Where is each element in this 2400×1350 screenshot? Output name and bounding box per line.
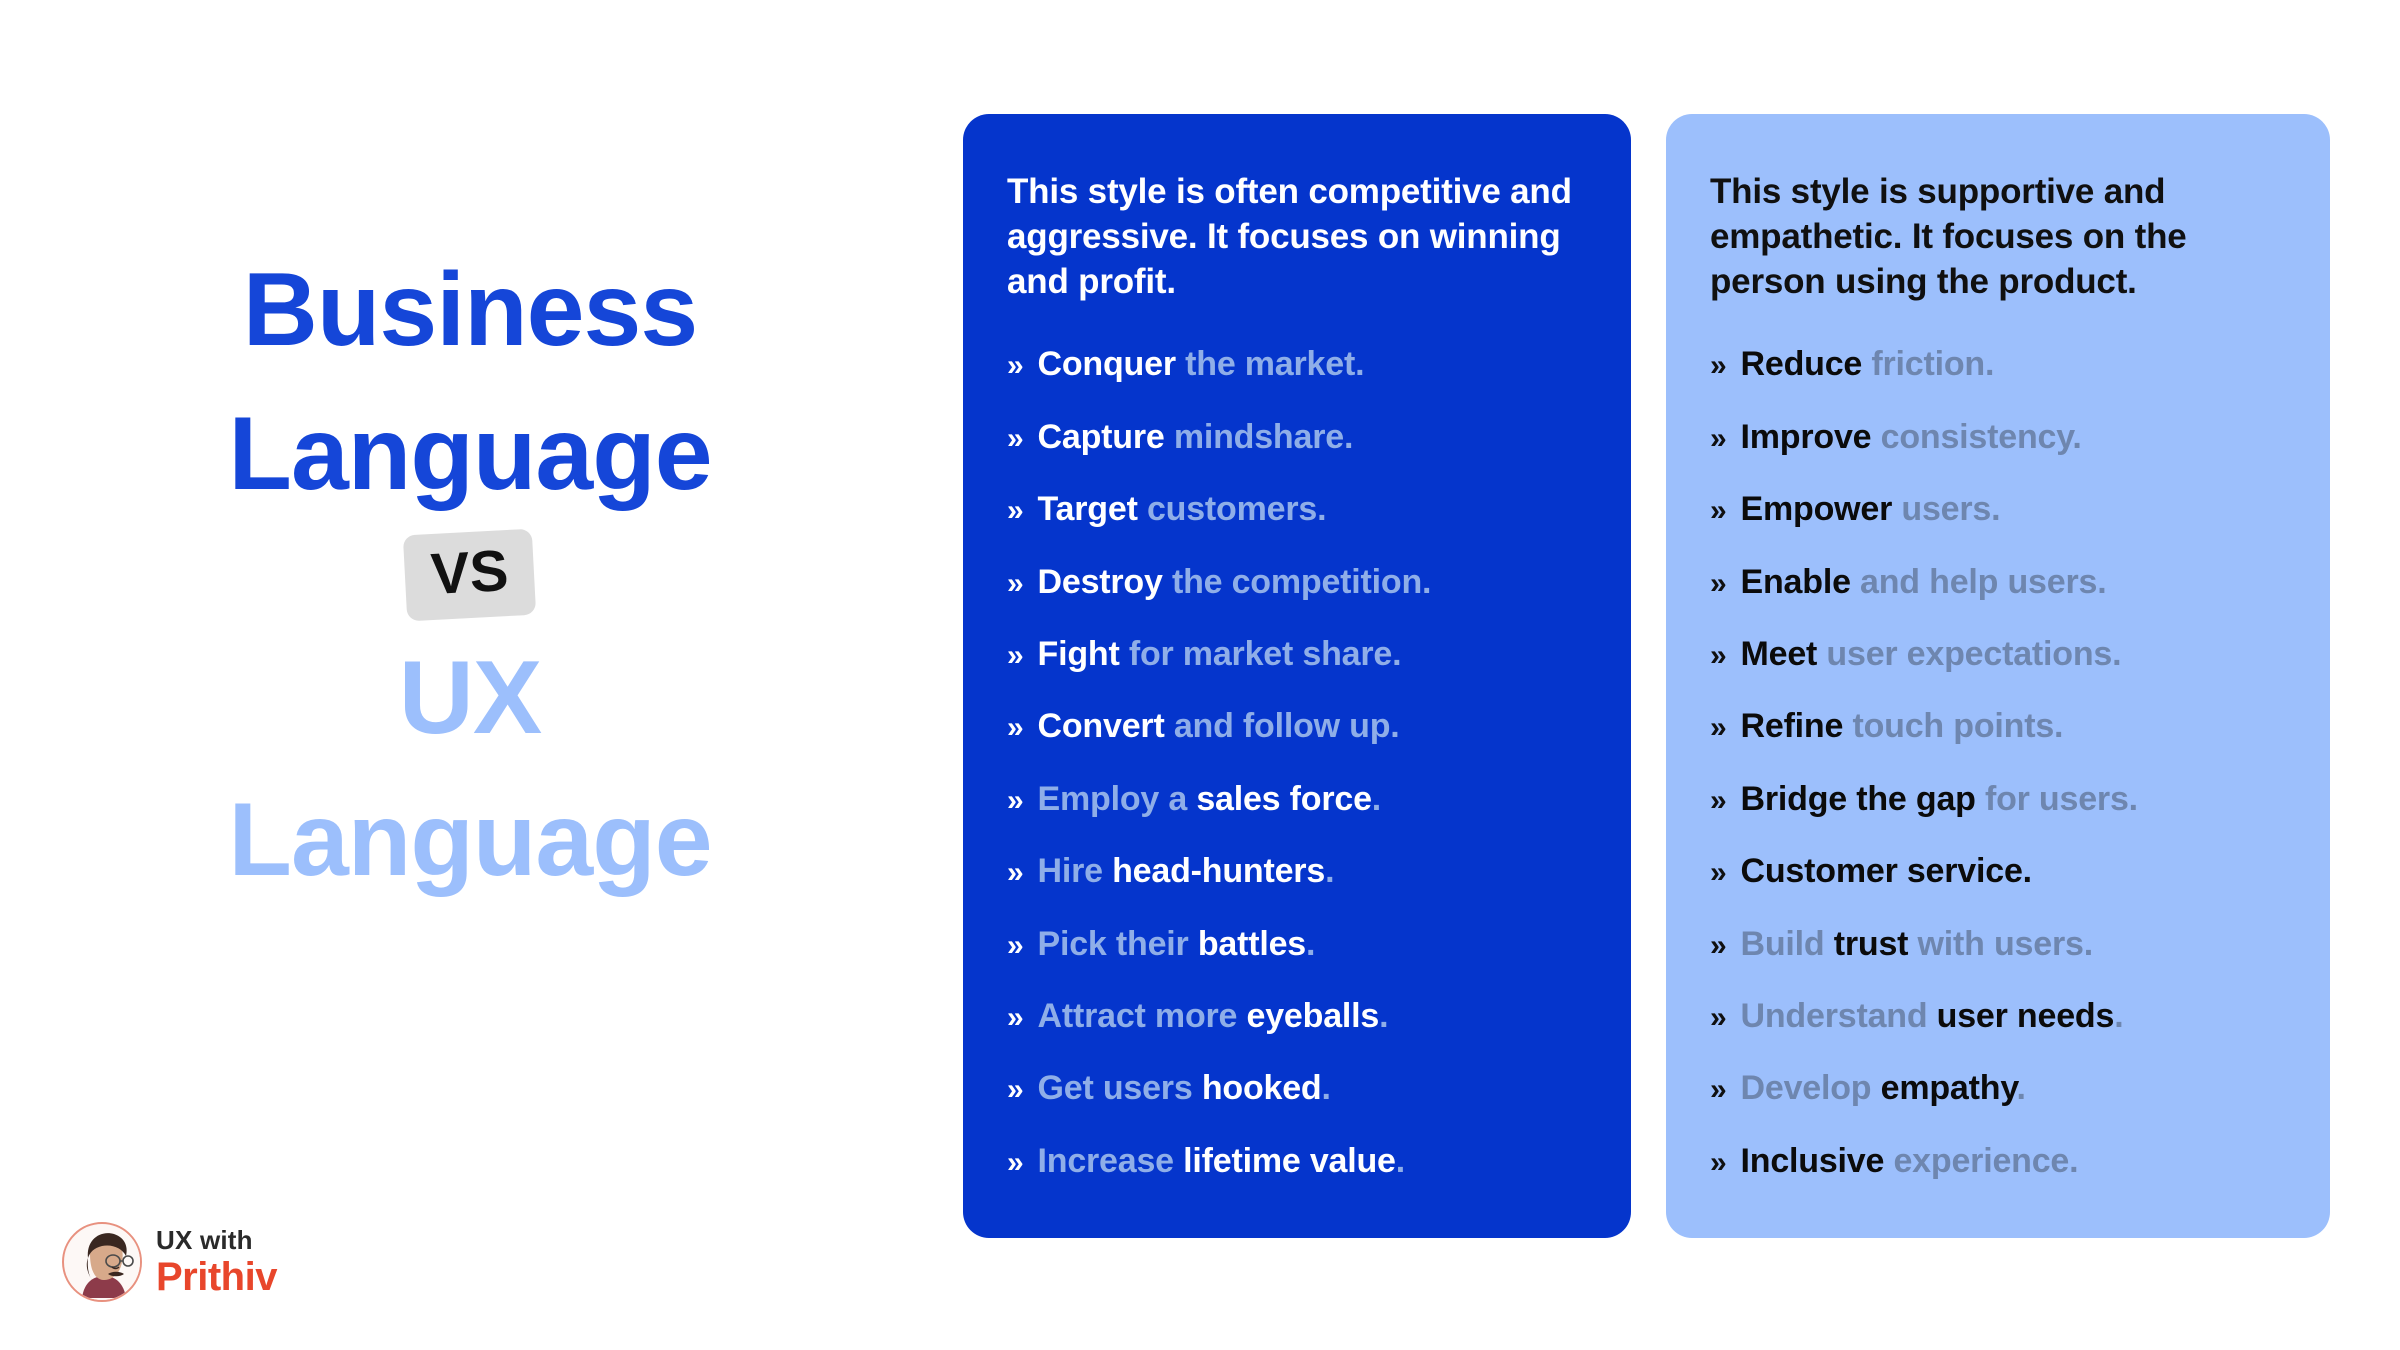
list-item: »Bridge the gap for users. bbox=[1710, 781, 2286, 818]
list-item-text: Inclusive experience. bbox=[1741, 1143, 2079, 1180]
list-item-segment-strong: Conquer bbox=[1038, 345, 1186, 383]
list-item-segment-muted: . bbox=[1322, 1069, 1331, 1107]
list-item: »Target customers. bbox=[1007, 491, 1587, 528]
list-item: »Customer service. bbox=[1710, 853, 2286, 890]
list-item: »Capture mindshare. bbox=[1007, 419, 1587, 456]
list-item-text: Build trust with users. bbox=[1741, 926, 2093, 963]
chevron-double-right-icon: » bbox=[1007, 349, 1024, 382]
list-item: »Hire head-hunters. bbox=[1007, 853, 1587, 890]
list-item-text: Destroy the competition. bbox=[1038, 564, 1432, 601]
list-item-segment-strong: Reduce bbox=[1741, 345, 1872, 383]
list-item: »Destroy the competition. bbox=[1007, 564, 1587, 601]
list-item: »Improve consistency. bbox=[1710, 419, 2286, 456]
chevron-double-right-icon: » bbox=[1710, 349, 1727, 382]
brand-logo: UX with Prithiv bbox=[62, 1222, 277, 1302]
list-item-segment-strong: user needs bbox=[1937, 997, 2115, 1035]
list-item-text: Bridge the gap for users. bbox=[1741, 781, 2138, 818]
chevron-double-right-icon: » bbox=[1007, 784, 1024, 817]
list-item-segment-strong: head-hunters bbox=[1112, 852, 1325, 890]
list-item-segment-strong: Enable bbox=[1741, 563, 1861, 601]
list-item-segment-muted: and follow up. bbox=[1174, 707, 1400, 745]
chevron-double-right-icon: » bbox=[1007, 711, 1024, 744]
list-item-text: Enable and help users. bbox=[1741, 564, 2107, 601]
list-item-segment-strong: eyeballs bbox=[1247, 997, 1380, 1035]
list-item-segment-muted: with users. bbox=[1918, 925, 2093, 963]
list-item-segment-muted: Attract more bbox=[1038, 997, 1247, 1035]
list-item-text: Employ a sales force. bbox=[1038, 781, 1382, 818]
list-item-text: Conquer the market. bbox=[1038, 346, 1365, 383]
chevron-double-right-icon: » bbox=[1710, 856, 1727, 889]
card-ux-heading: This style is supportive and empathetic.… bbox=[1710, 170, 2286, 304]
list-item-segment-strong: Empower bbox=[1741, 490, 1902, 528]
list-item-segment-muted: . bbox=[2114, 997, 2123, 1035]
chevron-double-right-icon: » bbox=[1710, 784, 1727, 817]
list-item-segment-muted: for market share. bbox=[1129, 635, 1402, 673]
list-item-text: Develop empathy. bbox=[1741, 1070, 2026, 1107]
list-item-segment-muted: . bbox=[1396, 1142, 1405, 1180]
list-item-segment-muted: user expectations. bbox=[1826, 635, 2121, 673]
vs-badge: VS bbox=[403, 529, 537, 622]
list-item: »Convert and follow up. bbox=[1007, 708, 1587, 745]
chevron-double-right-icon: » bbox=[1710, 1073, 1727, 1106]
chevron-double-right-icon: » bbox=[1710, 1146, 1727, 1179]
list-item-segment-strong: Refine bbox=[1741, 707, 1853, 745]
list-item-segment-muted: Understand bbox=[1741, 997, 1937, 1035]
avatar-illustration-icon bbox=[62, 1222, 142, 1302]
list-item: »Pick their battles. bbox=[1007, 926, 1587, 963]
list-item-segment-muted: and help users. bbox=[1860, 563, 2106, 601]
list-item-segment-muted: mindshare. bbox=[1174, 418, 1353, 456]
title-line-language-1: Language bbox=[0, 402, 940, 506]
card-business-list: »Conquer the market.»Capture mindshare.»… bbox=[1007, 346, 1587, 1180]
chevron-double-right-icon: » bbox=[1007, 1073, 1024, 1106]
list-item-segment-muted: the market. bbox=[1185, 345, 1364, 383]
list-item: »Fight for market share. bbox=[1007, 636, 1587, 673]
card-ux-language: This style is supportive and empathetic.… bbox=[1666, 114, 2330, 1238]
list-item: »Increase lifetime value. bbox=[1007, 1143, 1587, 1180]
list-item-text: Understand user needs. bbox=[1741, 998, 2124, 1035]
chevron-double-right-icon: » bbox=[1007, 567, 1024, 600]
list-item-segment-muted: Employ a bbox=[1038, 780, 1197, 818]
title-line-business: Business bbox=[0, 258, 940, 362]
list-item-segment-muted: Get users bbox=[1038, 1069, 1202, 1107]
title-line-language-2: Language bbox=[0, 788, 940, 892]
list-item-text: Empower users. bbox=[1741, 491, 2001, 528]
list-item: »Refine touch points. bbox=[1710, 708, 2286, 745]
list-item-text: Improve consistency. bbox=[1741, 419, 2082, 456]
list-item-segment-muted: customers. bbox=[1147, 490, 1326, 528]
list-item-segment-muted: users. bbox=[1901, 490, 2000, 528]
list-item: »Conquer the market. bbox=[1007, 346, 1587, 383]
chevron-double-right-icon: » bbox=[1007, 639, 1024, 672]
list-item: »Employ a sales force. bbox=[1007, 781, 1587, 818]
chevron-double-right-icon: » bbox=[1007, 1001, 1024, 1034]
list-item-text: Meet user expectations. bbox=[1741, 636, 2122, 673]
list-item-segment-muted: . bbox=[1372, 780, 1381, 818]
list-item-text: Refine touch points. bbox=[1741, 708, 2064, 745]
list-item-segment-muted: Build bbox=[1741, 925, 1834, 963]
brand-logo-name: Prithiv bbox=[156, 1257, 277, 1297]
list-item-text: Reduce friction. bbox=[1741, 346, 1995, 383]
chevron-double-right-icon: » bbox=[1710, 494, 1727, 527]
slide-canvas: Business Language VS UX Language bbox=[0, 0, 2400, 1350]
list-item-segment-muted: . bbox=[1325, 852, 1334, 890]
list-item-text: Fight for market share. bbox=[1038, 636, 1402, 673]
list-item: »Build trust with users. bbox=[1710, 926, 2286, 963]
list-item-segment-strong: Inclusive bbox=[1741, 1142, 1894, 1180]
chevron-double-right-icon: » bbox=[1710, 929, 1727, 962]
list-item-text: Hire head-hunters. bbox=[1038, 853, 1335, 890]
chevron-double-right-icon: » bbox=[1007, 422, 1024, 455]
list-item: »Understand user needs. bbox=[1710, 998, 2286, 1035]
chevron-double-right-icon: » bbox=[1007, 494, 1024, 527]
list-item-text: Capture mindshare. bbox=[1038, 419, 1354, 456]
list-item-text: Get users hooked. bbox=[1038, 1070, 1331, 1107]
vs-badge-wrap: VS bbox=[0, 532, 940, 618]
list-item-segment-muted: Pick their bbox=[1038, 925, 1198, 963]
list-item: »Meet user expectations. bbox=[1710, 636, 2286, 673]
list-item-text: Pick their battles. bbox=[1038, 926, 1316, 963]
list-item: »Inclusive experience. bbox=[1710, 1143, 2286, 1180]
chevron-double-right-icon: » bbox=[1710, 422, 1727, 455]
list-item-text: Increase lifetime value. bbox=[1038, 1143, 1406, 1180]
chevron-double-right-icon: » bbox=[1007, 1146, 1024, 1179]
list-item: »Reduce friction. bbox=[1710, 346, 2286, 383]
list-item: »Develop empathy. bbox=[1710, 1070, 2286, 1107]
list-item-segment-muted: Increase bbox=[1038, 1142, 1184, 1180]
title-block: Business Language VS UX Language bbox=[0, 258, 940, 892]
brand-logo-top-text: UX with bbox=[156, 1227, 277, 1253]
list-item-segment-muted: the competition. bbox=[1172, 563, 1431, 601]
list-item-segment-strong: trust bbox=[1834, 925, 1918, 963]
list-item-segment-muted: consistency. bbox=[1881, 418, 2082, 456]
list-item: »Enable and help users. bbox=[1710, 564, 2286, 601]
brand-logo-text: UX with Prithiv bbox=[156, 1227, 277, 1297]
list-item: »Empower users. bbox=[1710, 491, 2286, 528]
list-item-segment-muted: . bbox=[1306, 925, 1315, 963]
title-line-ux: UX bbox=[0, 646, 940, 750]
list-item-segment-strong: Destroy bbox=[1038, 563, 1172, 601]
list-item-text: Convert and follow up. bbox=[1038, 708, 1400, 745]
list-item-segment-muted: . bbox=[1379, 997, 1388, 1035]
chevron-double-right-icon: » bbox=[1710, 567, 1727, 600]
card-ux-list: »Reduce friction.»Improve consistency.»E… bbox=[1710, 346, 2286, 1180]
list-item-segment-muted: friction. bbox=[1871, 345, 1994, 383]
card-business-heading: This style is often competitive and aggr… bbox=[1007, 170, 1587, 304]
list-item-segment-strong: Target bbox=[1038, 490, 1147, 528]
list-item-segment-strong: empathy bbox=[1881, 1069, 2017, 1107]
list-item-segment-muted: Develop bbox=[1741, 1069, 1881, 1107]
list-item-segment-muted: Hire bbox=[1038, 852, 1113, 890]
chevron-double-right-icon: » bbox=[1007, 929, 1024, 962]
list-item-segment-muted: touch points. bbox=[1852, 707, 2063, 745]
chevron-double-right-icon: » bbox=[1710, 711, 1727, 744]
chevron-double-right-icon: » bbox=[1007, 856, 1024, 889]
list-item-segment-strong: battles bbox=[1198, 925, 1306, 963]
card-business-language: This style is often competitive and aggr… bbox=[963, 114, 1631, 1238]
list-item-segment-strong: Meet bbox=[1741, 635, 1827, 673]
list-item: »Get users hooked. bbox=[1007, 1070, 1587, 1107]
list-item: »Attract more eyeballs. bbox=[1007, 998, 1587, 1035]
list-item-text: Customer service. bbox=[1741, 853, 2032, 890]
list-item-segment-strong: Capture bbox=[1038, 418, 1174, 456]
list-item-segment-strong: sales force bbox=[1196, 780, 1371, 818]
list-item-segment-strong: Bridge the gap bbox=[1741, 780, 1985, 818]
list-item-segment-muted: experience. bbox=[1893, 1142, 2078, 1180]
list-item-segment-strong: lifetime value bbox=[1183, 1142, 1396, 1180]
list-item-segment-strong: hooked bbox=[1202, 1069, 1322, 1107]
list-item-segment-strong: Fight bbox=[1038, 635, 1129, 673]
list-item-segment-strong: Convert bbox=[1038, 707, 1174, 745]
chevron-double-right-icon: » bbox=[1710, 639, 1727, 672]
list-item-segment-muted: for users. bbox=[1985, 780, 2138, 818]
list-item-text: Attract more eyeballs. bbox=[1038, 998, 1389, 1035]
list-item-segment-strong: Customer service. bbox=[1741, 852, 2032, 890]
chevron-double-right-icon: » bbox=[1710, 1001, 1727, 1034]
list-item-segment-strong: Improve bbox=[1741, 418, 1881, 456]
list-item-segment-muted: . bbox=[2017, 1069, 2026, 1107]
list-item-text: Target customers. bbox=[1038, 491, 1327, 528]
